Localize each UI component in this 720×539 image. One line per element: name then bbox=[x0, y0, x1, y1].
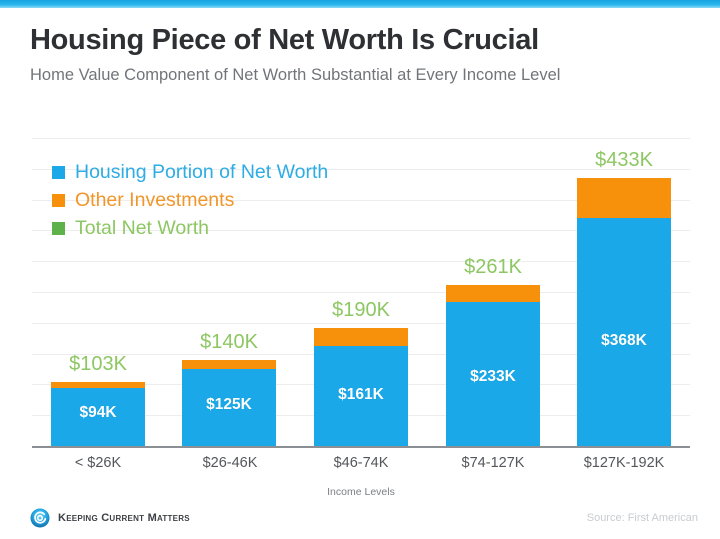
bar-group[interactable]: $94K$103K bbox=[51, 382, 145, 446]
legend-label-total: Total Net Worth bbox=[75, 217, 209, 239]
bar-total-label: $140K bbox=[170, 331, 288, 354]
legend-label-other: Other Investments bbox=[75, 189, 234, 211]
bar-total-label: $103K bbox=[39, 353, 157, 376]
bar-group[interactable]: $125K$140K bbox=[182, 360, 276, 446]
bar-total-label: $433K bbox=[565, 149, 683, 172]
bar-group[interactable]: $161K$190K bbox=[314, 328, 408, 446]
bar-group[interactable]: $368K$433K bbox=[577, 178, 671, 446]
legend-item-housing[interactable]: Housing Portion of Net Worth bbox=[52, 158, 328, 186]
bar-segment-housing[interactable] bbox=[446, 302, 540, 446]
bar-segment-other-investments[interactable] bbox=[51, 382, 145, 388]
bar-total-label: $190K bbox=[302, 299, 420, 322]
legend-label-housing: Housing Portion of Net Worth bbox=[75, 161, 328, 183]
bar-segment-housing[interactable] bbox=[51, 388, 145, 446]
legend-item-total[interactable]: Total Net Worth bbox=[52, 214, 328, 242]
bar-segment-other-investments[interactable] bbox=[314, 328, 408, 346]
bar-segment-other-investments[interactable] bbox=[577, 178, 671, 218]
bar-segment-other-investments[interactable] bbox=[446, 285, 540, 302]
bar-segment-housing[interactable] bbox=[577, 218, 671, 446]
bar-group[interactable]: $233K$261K bbox=[446, 285, 540, 446]
square-swatch-blue-icon bbox=[52, 166, 65, 179]
bar-segment-housing[interactable] bbox=[182, 369, 276, 446]
bar-total-label: $261K bbox=[434, 256, 552, 279]
legend-item-other[interactable]: Other Investments bbox=[52, 186, 328, 214]
bar-segment-housing[interactable] bbox=[314, 346, 408, 446]
bars-layer: $94K$103K$125K$140K$161K$190K$233K$261K$… bbox=[0, 0, 720, 539]
infographic-root: Housing Piece of Net Worth Is Crucial Ho… bbox=[0, 0, 720, 539]
chart-legend: Housing Portion of Net Worth Other Inves… bbox=[52, 158, 328, 242]
square-swatch-orange-icon bbox=[52, 194, 65, 207]
square-swatch-green-icon bbox=[52, 222, 65, 235]
bar-segment-other-investments[interactable] bbox=[182, 360, 276, 369]
